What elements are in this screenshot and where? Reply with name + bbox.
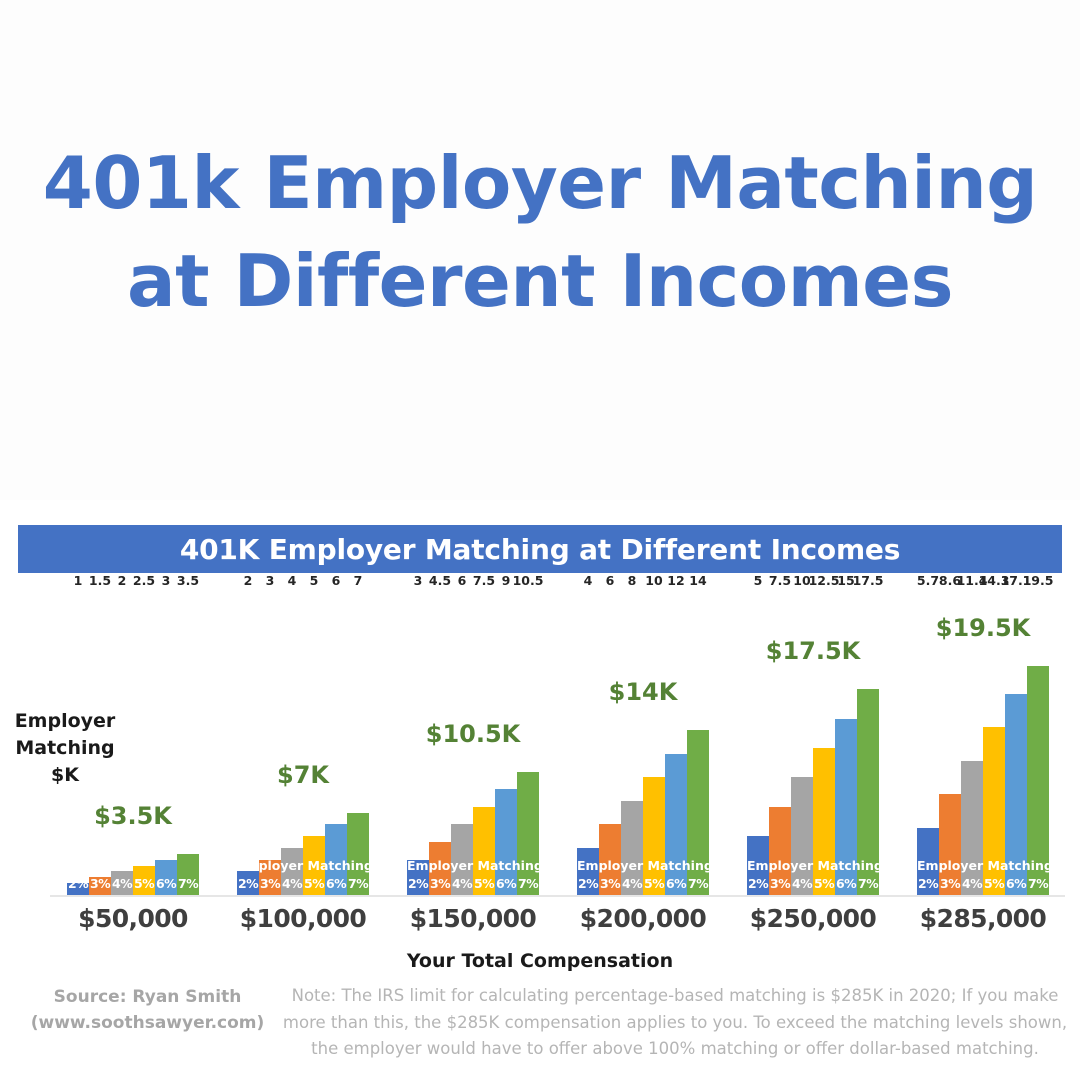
bar-3pct[interactable]: 6: [599, 824, 621, 895]
bar-group: 11.522.533.5$3.5KEmployer Matching %2%3%…: [48, 590, 218, 895]
bar-column[interactable]: 5: [303, 590, 325, 895]
bar-column[interactable]: 1: [67, 590, 89, 895]
bar-group: 34.567.5910.5$10.5KEmployer Matching %2%…: [388, 590, 558, 895]
bar-5pct[interactable]: 10: [643, 777, 665, 895]
bar-3pct[interactable]: 1.5: [89, 877, 111, 895]
page-title: 401k Employer Matching at Different Inco…: [30, 135, 1050, 331]
x-axis-category-labels: $50,000$100,000$150,000$200,000$250,000$…: [48, 904, 1068, 933]
bar-value-label: 14: [689, 573, 706, 588]
bar-6pct[interactable]: 6: [325, 824, 347, 895]
group-total-label: $17.5K: [766, 637, 861, 665]
bar-5pct[interactable]: 12.5: [813, 748, 835, 895]
bar-2pct[interactable]: 3: [407, 860, 429, 895]
bar-value-label: 5.7: [917, 573, 939, 588]
bar-column[interactable]: 17.5: [857, 590, 879, 895]
bar-column[interactable]: 12.5: [813, 590, 835, 895]
bar-2pct[interactable]: 1: [67, 883, 89, 895]
bar-column[interactable]: 2: [111, 590, 133, 895]
bar-value-label: 7: [354, 573, 363, 588]
bar-value-label: 3.5: [177, 573, 199, 588]
bar-column[interactable]: 8: [621, 590, 643, 895]
bar-column[interactable]: 10: [643, 590, 665, 895]
bar-4pct[interactable]: 2: [111, 871, 133, 895]
bar-3pct[interactable]: 3: [259, 860, 281, 895]
bar-value-label: 4: [584, 573, 593, 588]
bar-group-inner: 34.567.5910.5$10.5KEmployer Matching %2%…: [407, 590, 539, 895]
bar-value-label: 4.5: [429, 573, 451, 588]
bar-group: 468101214$14KEmployer Matching %2%3%4%5%…: [558, 590, 728, 895]
group-total-label: $10.5K: [426, 720, 521, 748]
bar-group-inner: 468101214$14KEmployer Matching %2%3%4%5%…: [577, 590, 709, 895]
bar-column[interactable]: 7: [347, 590, 369, 895]
bar-6pct[interactable]: 17.1: [1005, 694, 1027, 895]
bar-column[interactable]: 15: [835, 590, 857, 895]
bar-group-inner: 5.78.611.414.317.119.5$19.5KEmployer Mat…: [917, 590, 1049, 895]
bar-column[interactable]: 4: [577, 590, 599, 895]
bar-value-label: 3: [162, 573, 171, 588]
x-axis-baseline: [50, 895, 1065, 897]
bar-value-label: 8: [628, 573, 637, 588]
category-label: $100,000: [218, 904, 388, 933]
bar-value-label: 6: [332, 573, 341, 588]
category-label: $250,000: [728, 904, 898, 933]
bar-7pct[interactable]: 14: [687, 730, 709, 895]
group-total-label: $19.5K: [936, 614, 1031, 642]
category-label: $200,000: [558, 904, 728, 933]
bar-value-label: 3: [414, 573, 423, 588]
bar-column[interactable]: 4: [281, 590, 303, 895]
bar-7pct[interactable]: 10.5: [517, 772, 539, 896]
bar-column[interactable]: 6: [325, 590, 347, 895]
bar-value-label: 2: [244, 573, 253, 588]
bar-value-label: 2: [118, 573, 127, 588]
bar-column[interactable]: 2: [237, 590, 259, 895]
bar-column[interactable]: 14: [687, 590, 709, 895]
bar-2pct[interactable]: 2: [237, 871, 259, 895]
bar-column[interactable]: 3: [259, 590, 281, 895]
bar-groups: 11.522.533.5$3.5KEmployer Matching %2%3%…: [48, 590, 1068, 895]
group-total-label: $14K: [609, 678, 678, 706]
category-label: $285,000: [898, 904, 1068, 933]
bar-column[interactable]: 6: [599, 590, 621, 895]
bar-group: 57.51012.51517.5$17.5KEmployer Matching …: [728, 590, 898, 895]
bar-value-label: 10: [645, 573, 662, 588]
bar-value-label: 9: [502, 573, 511, 588]
source-credit: Source: Ryan Smith(www.soothsawyer.com): [20, 985, 275, 1036]
bar-group-inner: 234567$7KEmployer Matching %2%3%4%5%6%7%: [237, 590, 369, 895]
source-line: (www.soothsawyer.com): [20, 1011, 275, 1037]
bar-5pct[interactable]: 2.5: [133, 866, 155, 895]
bar-3pct[interactable]: 4.5: [429, 842, 451, 895]
bar-group: 5.78.611.414.317.119.5$19.5KEmployer Mat…: [898, 590, 1068, 895]
bar-5pct[interactable]: 7.5: [473, 807, 495, 895]
group-total-label: $7K: [277, 761, 329, 789]
bar-column[interactable]: 3.5: [177, 590, 199, 895]
bar-7pct[interactable]: 19.5: [1027, 666, 1049, 895]
bar-value-label: 10.5: [513, 573, 544, 588]
x-axis-title: Your Total Compensation: [0, 950, 1080, 972]
bar-value-label: 7.5: [769, 573, 791, 588]
bar-7pct[interactable]: 7: [347, 813, 369, 895]
chart-title: 401K Employer Matching at Different Inco…: [180, 533, 900, 566]
bar-column[interactable]: 3: [155, 590, 177, 895]
bar-3pct[interactable]: 8.6: [939, 794, 961, 895]
bar-value-label: 12: [667, 573, 684, 588]
bar-6pct[interactable]: 3: [155, 860, 177, 895]
bar-column[interactable]: 2.5: [133, 590, 155, 895]
bar-3pct[interactable]: 7.5: [769, 807, 791, 895]
bar-6pct[interactable]: 15: [835, 719, 857, 895]
bar-4pct[interactable]: 8: [621, 801, 643, 895]
bar-4pct[interactable]: 6: [451, 824, 473, 895]
bar-group-inner: 57.51012.51517.5$17.5KEmployer Matching …: [747, 590, 879, 895]
bar-value-label: 5: [310, 573, 319, 588]
bar-value-label: 6: [606, 573, 615, 588]
bar-value-label: 1.5: [89, 573, 111, 588]
footnote: Note: The IRS limit for calculating perc…: [280, 983, 1070, 1063]
bar-column[interactable]: 7.5: [769, 590, 791, 895]
bar-value-label: 19.5: [1023, 573, 1054, 588]
source-line: Source: Ryan Smith: [20, 985, 275, 1011]
bar-value-label: 17.5: [853, 573, 884, 588]
bar-column[interactable]: 12: [665, 590, 687, 895]
bar-6pct[interactable]: 9: [495, 789, 517, 895]
bar-group: 234567$7KEmployer Matching %2%3%4%5%6%7%: [218, 590, 388, 895]
bar-4pct[interactable]: 4: [281, 848, 303, 895]
bar-5pct[interactable]: 14.3: [983, 727, 1005, 895]
bar-2pct[interactable]: 5.7: [917, 828, 939, 895]
bar-7pct[interactable]: 3.5: [177, 854, 199, 895]
bar-value-label: 2.5: [133, 573, 155, 588]
bar-value-label: 6: [458, 573, 467, 588]
bar-6pct[interactable]: 12: [665, 754, 687, 895]
bar-7pct[interactable]: 17.5: [857, 689, 879, 895]
bar-value-label: 5: [754, 573, 763, 588]
chart-card: 401K Employer Matching at Different Inco…: [0, 500, 1080, 1080]
bar-value-label: 12.5: [809, 573, 840, 588]
chart-plot-area: EmployerMatching$K 11.522.533.5$3.5KEmpl…: [0, 590, 1080, 900]
hero-title-section: 401k Employer Matching at Different Inco…: [0, 0, 1080, 500]
bar-2pct[interactable]: 4: [577, 848, 599, 895]
bar-column[interactable]: 1.5: [89, 590, 111, 895]
bar-value-label: 4: [288, 573, 297, 588]
bar-column[interactable]: 5: [747, 590, 769, 895]
bar-value-label: 1: [74, 573, 83, 588]
bar-2pct[interactable]: 5: [747, 836, 769, 895]
bar-group-inner: 11.522.533.5$3.5KEmployer Matching %2%3%…: [67, 590, 199, 895]
bar-column[interactable]: 10: [791, 590, 813, 895]
category-label: $50,000: [48, 904, 218, 933]
chart-banner: 401K Employer Matching at Different Inco…: [18, 525, 1062, 573]
bar-4pct[interactable]: 10: [791, 777, 813, 895]
bar-value-label: 3: [266, 573, 275, 588]
bar-value-label: 7.5: [473, 573, 495, 588]
bar-4pct[interactable]: 11.4: [961, 761, 983, 895]
group-total-label: $3.5K: [94, 802, 172, 830]
category-label: $150,000: [388, 904, 558, 933]
bar-5pct[interactable]: 5: [303, 836, 325, 895]
